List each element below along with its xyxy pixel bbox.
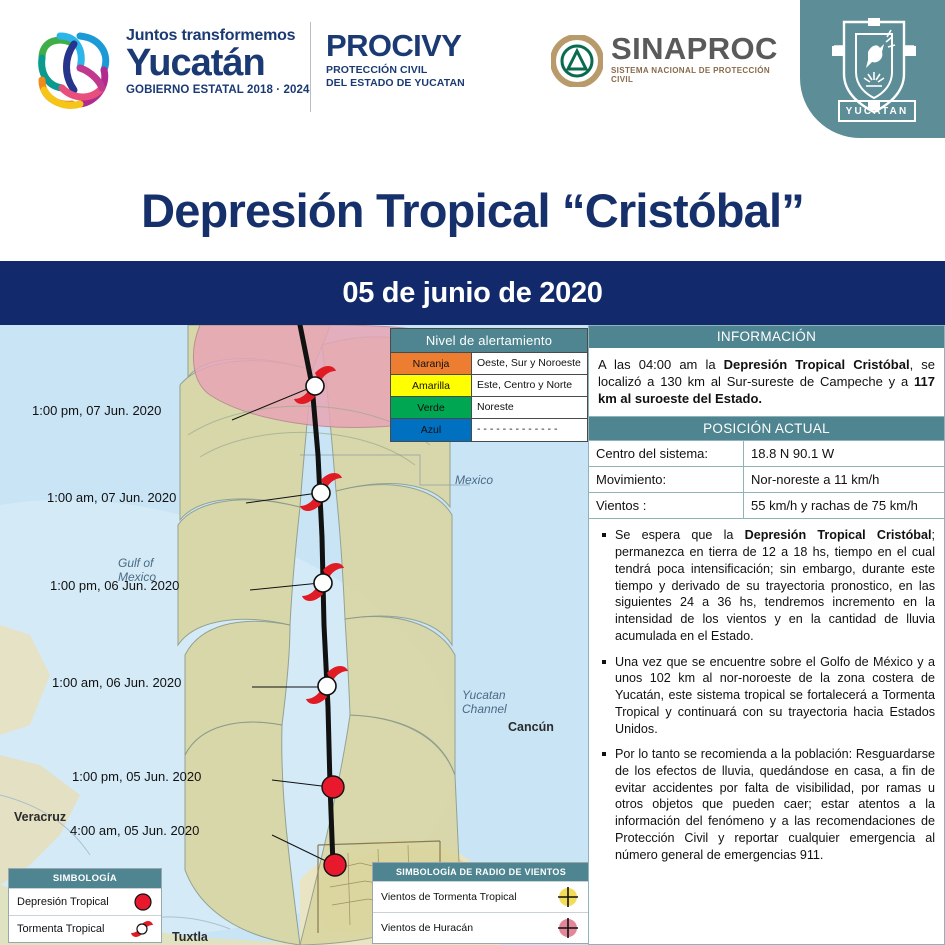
date-bar: 05 de junio de 2020: [0, 261, 945, 325]
track-time-label-2: 1:00 pm, 06 Jun. 2020: [50, 578, 179, 593]
yucatan-weave-icon: [34, 28, 118, 112]
sinaproc-sub: SISTEMA NACIONAL DE PROTECCIÓN CIVIL: [611, 66, 781, 84]
legend-item-wind-ts: Vientos de Tormenta Tropical: [373, 881, 589, 912]
information-panel: INFORMACIÓN A las 04:00 am la Depresión …: [588, 325, 945, 945]
alert-level-azul: Azul: [391, 419, 471, 440]
position-key-vientos: Vientos :: [589, 493, 744, 519]
track-marker-depression-05pm[interactable]: [318, 772, 348, 802]
yellow-cross-icon: [555, 886, 581, 908]
bullet-0-bold: Depresión Tropical Cristóbal: [745, 528, 932, 542]
bullet-0-pre: Se espera que la: [615, 528, 745, 542]
legend-label-depresion: Depresión Tropical: [17, 896, 109, 908]
legend-label-tormenta: Tormenta Tropical: [17, 923, 104, 935]
legend-wind-header: SIMBOLOGÍA DE RADIO DE VIENTOS: [373, 863, 589, 881]
alert-zones-verde: Noreste: [471, 397, 587, 418]
legend-label-wind-ts: Vientos de Tormenta Tropical: [381, 891, 517, 903]
bullet-item-2: Por lo tanto se recomienda a la població…: [602, 746, 935, 863]
recommendations-list: Se espera que la Depresión Tropical Cris…: [588, 519, 945, 863]
logo-state-name: Yucatán: [126, 45, 336, 81]
red-circle-icon: [133, 892, 153, 912]
track-marker-storm-06pm[interactable]: [298, 552, 348, 614]
legend-label-wind-hur: Vientos de Huracán: [381, 922, 473, 934]
alert-level-verde: Verde: [391, 397, 471, 418]
track-time-label-0: 1:00 pm, 07 Jun. 2020: [32, 403, 161, 418]
position-row-movimiento: Movimiento: Nor-noreste a 11 km/h: [589, 467, 945, 493]
position-row-vientos: Vientos : 55 km/h y rachas de 75 km/h: [589, 493, 945, 519]
storm-swirl-icon: [131, 918, 153, 940]
city-label-tuxtla: Tuxtla: [172, 930, 208, 944]
track-marker-storm-07pm[interactable]: [290, 355, 340, 417]
yucatan-logo-text: Juntos transformemos Yucatán GOBIERNO ES…: [126, 28, 336, 96]
position-value-vientos: 55 km/h y rachas de 75 km/h: [744, 493, 945, 519]
alert-zones-azul: - - - - - - - - - - - - -: [471, 419, 587, 440]
bullet-2-pre: Por lo tanto se recomienda a la població…: [615, 747, 935, 861]
procivy-sub1: PROTECCIÓN CIVIL: [326, 64, 526, 77]
alert-row-amarilla: Amarilla Este, Centro y Norte: [391, 374, 587, 396]
alert-level-table: Nivel de alertamiento Naranja Oeste, Sur…: [390, 328, 588, 442]
alert-row-naranja: Naranja Oeste, Sur y Noroeste: [391, 352, 587, 374]
position-key-centro: Centro del sistema:: [589, 441, 744, 467]
alert-table-header: Nivel de alertamiento: [391, 329, 587, 352]
procivy-sub2: DEL ESTADO DE YUCATAN: [326, 77, 526, 90]
shield-band-label: YUCATAN: [838, 100, 916, 122]
procivy-logo: PROCIVY PROTECCIÓN CIVIL DEL ESTADO DE Y…: [326, 30, 526, 90]
track-time-label-3: 1:00 am, 06 Jun. 2020: [52, 675, 181, 690]
logo-term: GOBIERNO ESTATAL 2018 · 2024: [126, 84, 336, 96]
position-value-movimiento: Nor-noreste a 11 km/h: [744, 467, 945, 493]
bullet-item-0: Se espera que la Depresión Tropical Cris…: [602, 527, 935, 644]
sinaproc-name: SINAPROC: [611, 33, 781, 64]
information-header: INFORMACIÓN: [588, 325, 945, 348]
bullet-1-pre: Una vez que se encuentre sobre el Golfo …: [615, 655, 935, 736]
info-text-a: A las 04:00 am la: [598, 357, 724, 372]
sinaproc-emblem-icon: [551, 35, 603, 87]
track-time-label-1: 1:00 am, 07 Jun. 2020: [47, 490, 176, 505]
infographic-page: Juntos transformemos Yucatán GOBIERNO ES…: [0, 0, 945, 945]
track-marker-storm-06am[interactable]: [302, 655, 352, 717]
date-text: 05 de junio de 2020: [342, 277, 602, 310]
alert-level-amarilla: Amarilla: [391, 375, 471, 396]
legend-symbols: SIMBOLOGÍA Depresión Tropical Tormenta T…: [8, 868, 162, 943]
page-title-bar: Depresión Tropical “Cristóbal”: [0, 160, 945, 261]
yucatan-government-logo: Juntos transformemos Yucatán GOBIERNO ES…: [34, 24, 334, 116]
position-key-movimiento: Movimiento:: [589, 467, 744, 493]
header-divider: [310, 22, 311, 112]
position-row-centro: Centro del sistema: 18.8 N 90.1 W: [589, 441, 945, 467]
legend-symbols-header: SIMBOLOGÍA: [9, 869, 161, 888]
track-time-label-5: 4:00 am, 05 Jun. 2020: [70, 823, 199, 838]
bullet-item-1: Una vez que se encuentre sobre el Golfo …: [602, 654, 935, 738]
sinaproc-logo: SINAPROC SISTEMA NACIONAL DE PROTECCIÓN …: [551, 33, 781, 93]
alert-row-verde: Verde Noreste: [391, 396, 587, 418]
position-table: Centro del sistema: 18.8 N 90.1 W Movimi…: [588, 440, 945, 519]
pink-cross-icon: [555, 917, 581, 939]
alert-level-naranja: Naranja: [391, 353, 471, 374]
information-box: A las 04:00 am la Depresión Tropical Cri…: [588, 348, 945, 417]
position-value-centro: 18.8 N 90.1 W: [744, 441, 945, 467]
legend-wind-radius: SIMBOLOGÍA DE RADIO DE VIENTOS Vientos d…: [372, 862, 590, 944]
procivy-name: PROCIVY: [326, 30, 526, 61]
legend-item-tormenta: Tormenta Tropical: [9, 915, 161, 942]
bullet-0-post: ; permanezca en tierra de 12 a 18 hs, ti…: [615, 528, 935, 642]
track-marker-depression-05am[interactable]: [320, 850, 350, 880]
alert-zones-naranja: Oeste, Sur y Noroeste: [471, 353, 587, 374]
city-label-veracruz: Veracruz: [14, 810, 66, 824]
position-header: POSICIÓN ACTUAL: [588, 417, 945, 440]
legend-item-depresion: Depresión Tropical: [9, 888, 161, 915]
alert-zones-amarilla: Este, Centro y Norte: [471, 375, 587, 396]
track-time-label-4: 1:00 pm, 05 Jun. 2020: [72, 769, 201, 784]
page-title: Depresión Tropical “Cristóbal”: [141, 183, 804, 238]
info-text-b: Depresión Tropical Cristóbal: [724, 357, 910, 372]
alert-row-azul: Azul - - - - - - - - - - - - -: [391, 418, 587, 440]
sinaproc-text: SINAPROC SISTEMA NACIONAL DE PROTECCIÓN …: [611, 33, 781, 84]
city-label-cancun: Cancún: [508, 720, 554, 734]
header-bar: Juntos transformemos Yucatán GOBIERNO ES…: [0, 0, 945, 160]
track-marker-storm-07am[interactable]: [296, 462, 346, 524]
information-paragraph: A las 04:00 am la Depresión Tropical Cri…: [598, 356, 935, 407]
legend-item-wind-hur: Vientos de Huracán: [373, 912, 589, 943]
